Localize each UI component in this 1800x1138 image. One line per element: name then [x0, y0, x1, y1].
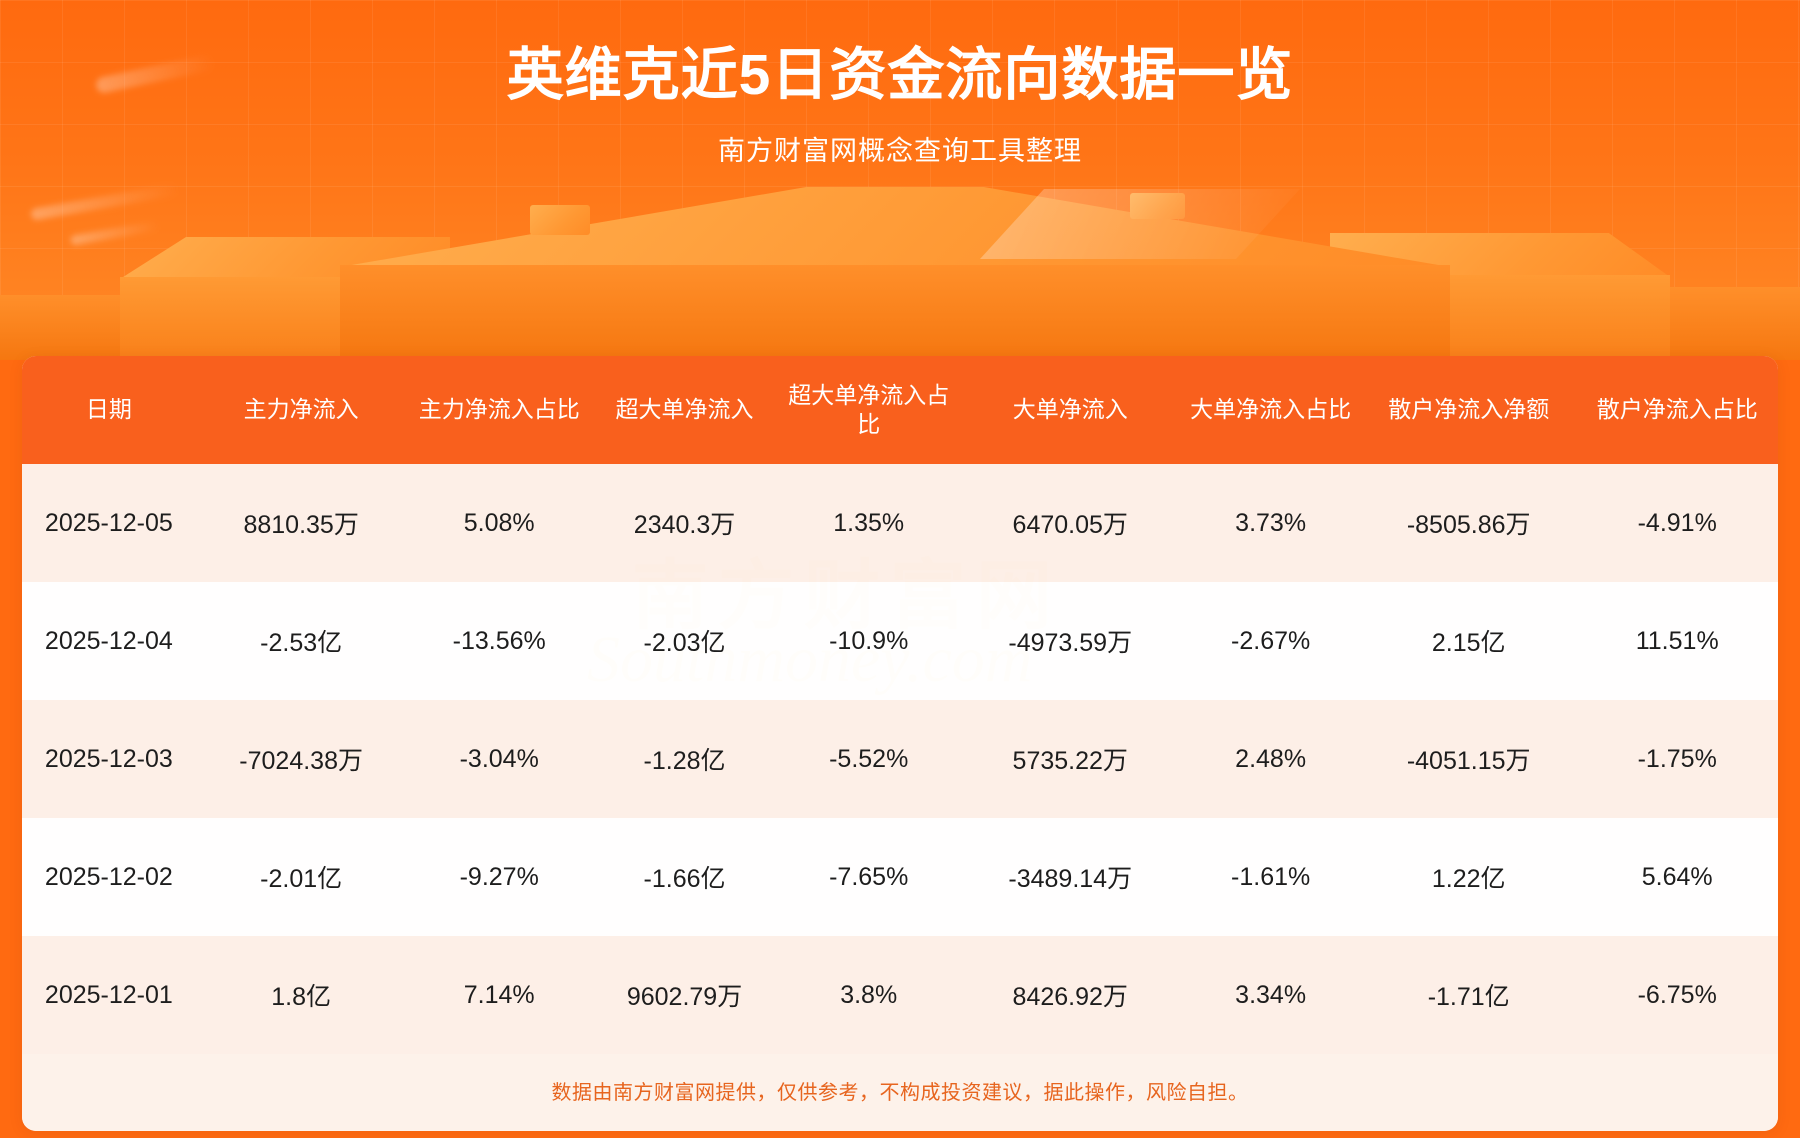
table-row: 2025-12-01 1.8亿 7.14% 9602.79万 3.8% 8426…: [22, 936, 1778, 1054]
podium-accent-tab-left: [530, 205, 590, 235]
cell-main-pct: -3.04%: [407, 700, 592, 818]
cell-date: 2025-12-05: [22, 464, 196, 582]
cell-large-pct: 3.34%: [1180, 936, 1361, 1054]
cell-large-net: 6470.05万: [960, 464, 1180, 582]
cell-retail-pct: 11.51%: [1576, 582, 1778, 700]
cell-retail-net: -4051.15万: [1361, 700, 1576, 818]
cell-retail-net: -1.71亿: [1361, 936, 1576, 1054]
table-body: 2025-12-05 8810.35万 5.08% 2340.3万 1.35% …: [22, 464, 1778, 1054]
podium-block-far-left: [0, 295, 130, 360]
cell-xl-net: 9602.79万: [592, 936, 777, 1054]
column-header-date[interactable]: 日期: [22, 356, 196, 464]
page-subtitle: 南方财富网概念查询工具整理: [0, 129, 1800, 168]
table-row: 2025-12-05 8810.35万 5.08% 2340.3万 1.35% …: [22, 464, 1778, 582]
cell-xl-pct: -10.9%: [777, 582, 960, 700]
cell-xl-net: -1.66亿: [592, 818, 777, 936]
cell-date: 2025-12-02: [22, 818, 196, 936]
table-row: 2025-12-03 -7024.38万 -3.04% -1.28亿 -5.52…: [22, 700, 1778, 818]
cell-xl-pct: -7.65%: [777, 818, 960, 936]
cell-main-pct: -13.56%: [407, 582, 592, 700]
cell-main-net: 8810.35万: [196, 464, 407, 582]
column-header-retail-pct[interactable]: 散户净流入占比: [1576, 356, 1778, 464]
cell-xl-pct: 1.35%: [777, 464, 960, 582]
cell-date: 2025-12-01: [22, 936, 196, 1054]
cell-large-pct: -1.61%: [1180, 818, 1361, 936]
cell-main-net: 1.8亿: [196, 936, 407, 1054]
cell-large-net: 8426.92万: [960, 936, 1180, 1054]
cell-retail-pct: -6.75%: [1576, 936, 1778, 1054]
column-header-xl-pct[interactable]: 超大单净流入占比: [777, 356, 960, 464]
cell-xl-pct: -5.52%: [777, 700, 960, 818]
cell-retail-pct: -4.91%: [1576, 464, 1778, 582]
cell-xl-pct: 3.8%: [777, 936, 960, 1054]
cell-large-pct: 2.48%: [1180, 700, 1361, 818]
column-header-main-pct[interactable]: 主力净流入占比: [407, 356, 592, 464]
table-header-row: 日期 主力净流入 主力净流入占比 超大单净流入 超大单净流入占比 大单净流入 大…: [22, 356, 1778, 464]
column-header-main-net[interactable]: 主力净流入: [196, 356, 407, 464]
cell-main-pct: 7.14%: [407, 936, 592, 1054]
cell-retail-net: 2.15亿: [1361, 582, 1576, 700]
header-text-group: 英维克近5日资金流向数据一览 南方财富网概念查询工具整理: [0, 0, 1800, 168]
cell-main-pct: 5.08%: [407, 464, 592, 582]
cell-large-net: -4973.59万: [960, 582, 1180, 700]
podium-block-far-right: [1660, 287, 1800, 360]
fund-flow-table: 日期 主力净流入 主力净流入占比 超大单净流入 超大单净流入占比 大单净流入 大…: [22, 356, 1778, 1054]
cell-large-net: -3489.14万: [960, 818, 1180, 936]
data-table-card: 南方财富网 Southmoney.com 日期 主力净流入 主力净流入占比 超大…: [22, 356, 1778, 1131]
disclaimer-text: 数据由南方财富网提供，仅供参考，不构成投资建议，据此操作，风险自担。: [22, 1054, 1778, 1131]
cell-retail-pct: -1.75%: [1576, 700, 1778, 818]
cell-large-pct: 3.73%: [1180, 464, 1361, 582]
cell-date: 2025-12-03: [22, 700, 196, 818]
podium-block-center-front: [340, 265, 1450, 360]
cell-main-net: -2.01亿: [196, 818, 407, 936]
cell-xl-net: -1.28亿: [592, 700, 777, 818]
cell-xl-net: -2.03亿: [592, 582, 777, 700]
cell-xl-net: 2340.3万: [592, 464, 777, 582]
column-header-large-net[interactable]: 大单净流入: [960, 356, 1180, 464]
cell-retail-net: 1.22亿: [1361, 818, 1576, 936]
podium-illustration: [0, 175, 1800, 360]
column-header-large-pct[interactable]: 大单净流入占比: [1180, 356, 1361, 464]
table-row: 2025-12-02 -2.01亿 -9.27% -1.66亿 -7.65% -…: [22, 818, 1778, 936]
column-header-retail-net[interactable]: 散户净流入净额: [1361, 356, 1576, 464]
cell-large-pct: -2.67%: [1180, 582, 1361, 700]
cell-main-net: -7024.38万: [196, 700, 407, 818]
cell-date: 2025-12-04: [22, 582, 196, 700]
cell-main-net: -2.53亿: [196, 582, 407, 700]
cell-retail-net: -8505.86万: [1361, 464, 1576, 582]
page-title: 英维克近5日资金流向数据一览: [0, 40, 1800, 111]
cell-main-pct: -9.27%: [407, 818, 592, 936]
cell-large-net: 5735.22万: [960, 700, 1180, 818]
cell-retail-pct: 5.64%: [1576, 818, 1778, 936]
table-row: 2025-12-04 -2.53亿 -13.56% -2.03亿 -10.9% …: [22, 582, 1778, 700]
column-header-xl-net[interactable]: 超大单净流入: [592, 356, 777, 464]
